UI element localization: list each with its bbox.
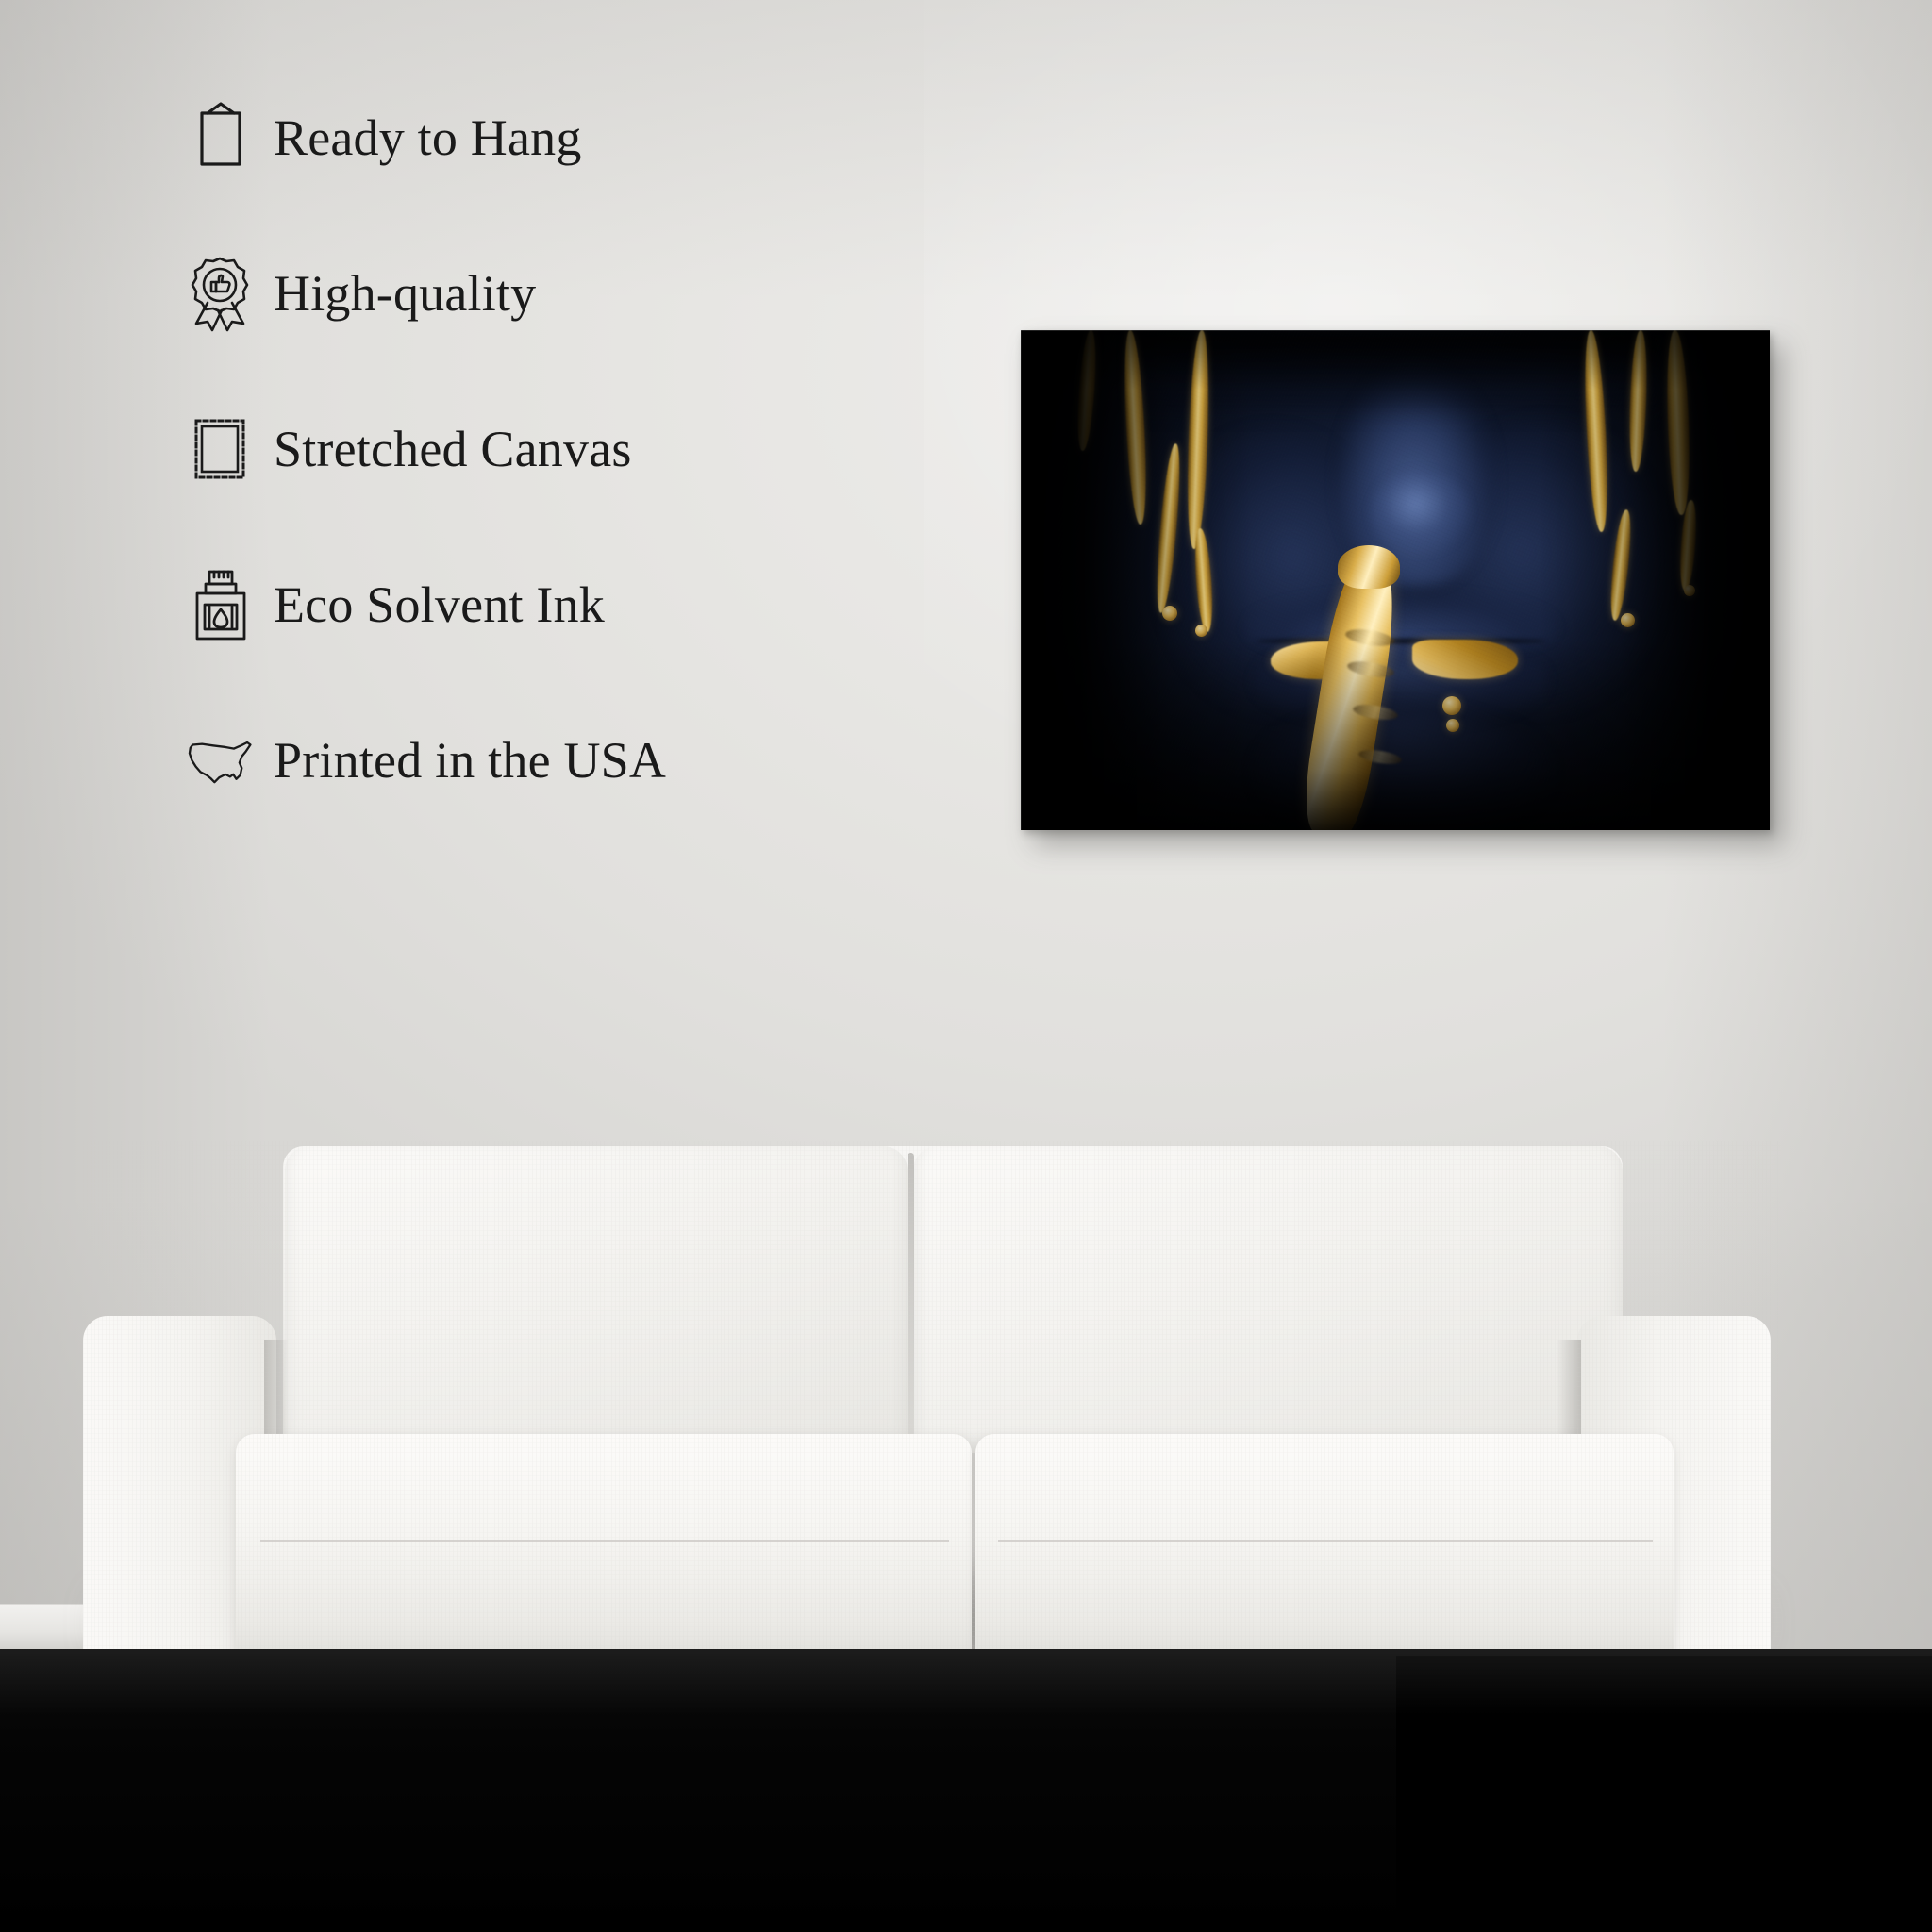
feature-item-printed-in-usa: Printed in the USA: [185, 709, 902, 811]
seat-cushion-right: [975, 1434, 1674, 1670]
feature-label: Printed in the USA: [274, 734, 666, 788]
feature-label: Ready to Hang: [274, 111, 582, 165]
backrest-seam: [908, 1153, 914, 1453]
seat-piping-left: [260, 1540, 949, 1542]
artwork-vignette: [1021, 330, 1770, 830]
usa-map-outline-icon: [185, 721, 257, 800]
seat-piping-right: [998, 1540, 1653, 1542]
seat-cushion-left: [236, 1434, 972, 1670]
dashed-canvas-frame-icon: [185, 409, 257, 489]
backrest-cushion-right: [913, 1146, 1623, 1453]
floor-right-section: [1396, 1656, 1932, 1932]
award-badge-thumbs-up-icon: [185, 254, 257, 333]
feature-item-ready-to-hang: Ready to Hang: [185, 87, 902, 189]
artwork-image: [1021, 330, 1770, 830]
feature-list: Ready to Hang High-qualit: [185, 87, 902, 865]
room-scene: Ready to Hang High-qualit: [0, 0, 1932, 1932]
ink-bottle-droplet-icon: [185, 565, 257, 644]
feature-item-stretched-canvas: Stretched Canvas: [185, 398, 902, 500]
feature-item-high-quality: High-quality: [185, 242, 902, 344]
framed-picture-hanging-icon: [185, 98, 257, 177]
feature-label: Stretched Canvas: [274, 423, 632, 476]
feature-item-eco-solvent-ink: Eco Solvent Ink: [185, 554, 902, 656]
feature-label: High-quality: [274, 267, 536, 321]
backrest-cushion-left: [285, 1146, 908, 1453]
wall-art-canvas[interactable]: [1021, 330, 1770, 830]
feature-label: Eco Solvent Ink: [274, 578, 605, 632]
